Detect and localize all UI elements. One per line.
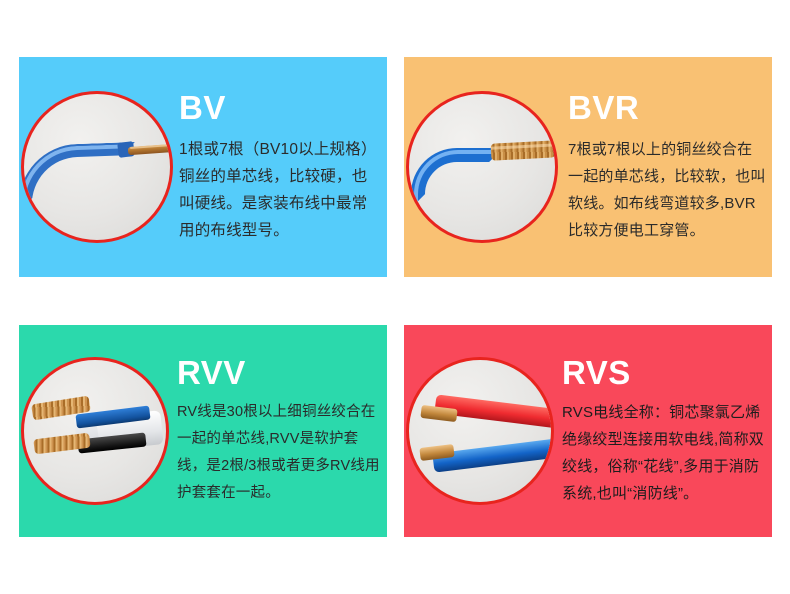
bvr-photo-wrapper [406,91,558,243]
bv-text-column: BV 1根或7根（BV10以上规格）铜丝的单芯线，比较硬，也叫硬线。是家装布线中… [173,91,387,244]
cable-type-card-grid: BV 1根或7根（BV10以上规格）铜丝的单芯线，比较硬，也叫硬线。是家装布线中… [19,57,772,537]
rvs-text-column: RVS RVS电线全称：铜芯聚氯乙烯绝缘绞型连接用软电线,简称双绞线，俗称“花线… [554,356,772,507]
rvv-title: RVV [177,356,381,389]
rvs-photo-wrapper [406,357,554,505]
cable-card-bv[interactable]: BV 1根或7根（BV10以上规格）铜丝的单芯线，比较硬，也叫硬线。是家装布线中… [19,57,387,277]
rvv-photo-wrapper [21,357,169,505]
bv-cable-photo [21,91,173,243]
rvs-title: RVS [562,356,766,389]
rvs-description: RVS电线全称：铜芯聚氯乙烯绝缘绞型连接用软电线,简称双绞线，俗称“花线”,多用… [562,399,766,507]
bvr-text-column: BVR 7根或7根以上的铜丝绞合在一起的单芯线，比较软，也叫软线。如布线弯道较多… [558,91,772,244]
cable-card-rvs[interactable]: RVS RVS电线全称：铜芯聚氯乙烯绝缘绞型连接用软电线,简称双绞线，俗称“花线… [404,325,772,537]
bvr-cable-photo [406,91,558,243]
bv-photo-wrapper [21,91,173,243]
bv-description: 1根或7根（BV10以上规格）铜丝的单芯线，比较硬，也叫硬线。是家装布线中最常用… [179,136,381,244]
bvr-description: 7根或7根以上的铜丝绞合在一起的单芯线，比较软，也叫软线。如布线弯道较多,BVR… [568,136,766,244]
rvs-cable-photo [406,357,554,505]
bvr-title: BVR [568,91,766,124]
cable-card-rvv[interactable]: RVV RV线是30根以上细铜丝绞合在一起的单芯线,RVV是软护套线，是2根/3… [19,325,387,537]
bvr-copper-strands-shape [491,140,558,160]
rvv-text-column: RVV RV线是30根以上细铜丝绞合在一起的单芯线,RVV是软护套线，是2根/3… [169,356,387,507]
bv-title: BV [179,91,381,124]
rvv-cable-photo [21,357,169,505]
rvv-description: RV线是30根以上细铜丝绞合在一起的单芯线,RVV是软护套线，是2根/3根或者更… [177,399,381,507]
cable-card-bvr[interactable]: BVR 7根或7根以上的铜丝绞合在一起的单芯线，比较软，也叫软线。如布线弯道较多… [404,57,772,277]
